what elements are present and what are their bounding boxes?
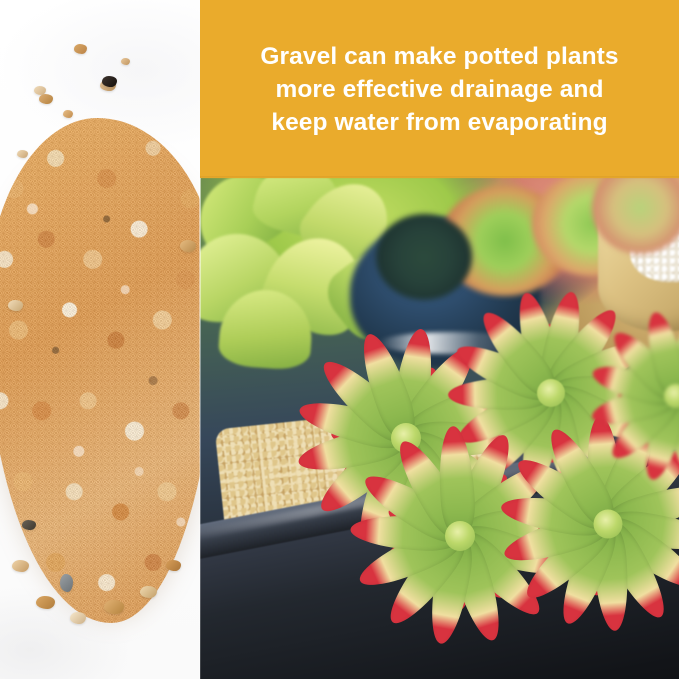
gravel-heap bbox=[0, 118, 200, 623]
stray-pebble bbox=[121, 58, 130, 65]
edge-pebble bbox=[12, 560, 29, 572]
photo-divider bbox=[199, 178, 201, 679]
succulent-core bbox=[537, 379, 565, 407]
echeveria-rosette bbox=[586, 306, 679, 486]
edge-pebble bbox=[22, 520, 36, 530]
edge-pebble bbox=[140, 586, 157, 598]
gravel-sample-photo bbox=[0, 0, 200, 679]
banner-seam bbox=[200, 176, 679, 179]
edge-pebble bbox=[36, 596, 55, 609]
succulent-planter-photo bbox=[200, 178, 679, 679]
succulent-core bbox=[593, 509, 622, 538]
caption-banner: Gravel can make potted plants more effec… bbox=[200, 0, 679, 178]
edge-pebble bbox=[60, 574, 73, 592]
edge-pebble bbox=[166, 560, 181, 571]
edge-pebble bbox=[180, 240, 196, 252]
stray-pebble bbox=[39, 94, 53, 104]
edge-pebble bbox=[70, 612, 86, 624]
dark-pebble bbox=[102, 76, 117, 87]
edge-pebble bbox=[104, 600, 124, 614]
stray-pebble bbox=[74, 44, 87, 54]
edge-pebble bbox=[8, 300, 23, 311]
infographic-canvas: Gravel can make potted plants more effec… bbox=[0, 0, 679, 679]
stray-pebble bbox=[63, 110, 73, 118]
caption-text: Gravel can make potted plants more effec… bbox=[246, 40, 632, 139]
gravel-grain-overlay-fine bbox=[0, 118, 200, 623]
succulent-core bbox=[445, 521, 475, 551]
gravel-grain-overlay bbox=[0, 118, 200, 623]
